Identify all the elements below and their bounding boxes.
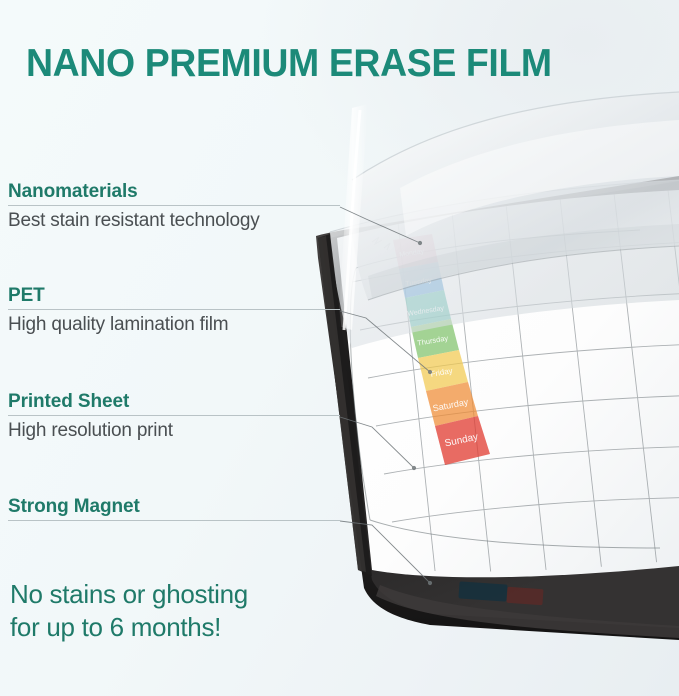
product-infographic: Monday Tuesday Wednesday T xyxy=(0,0,679,696)
svg-text:Thursday: Thursday xyxy=(416,333,449,347)
svg-text:Tuesday: Tuesday xyxy=(405,277,433,288)
callout-rule xyxy=(8,520,340,521)
callout-printed-sheet: Printed Sheet High resolution print xyxy=(8,391,354,444)
callout-heading: Nanomaterials xyxy=(8,181,354,203)
callout-subtitle: Best stain resistant technology xyxy=(8,209,354,234)
leader-strong-magnet xyxy=(340,521,430,583)
tagline-line-1: No stains or ghosting xyxy=(10,578,248,611)
svg-text:Friday: Friday xyxy=(430,366,453,379)
printed-grid-sheet xyxy=(337,190,679,594)
callout-heading: Strong Magnet xyxy=(8,496,354,518)
handwriting-marks xyxy=(372,237,390,250)
svg-text:Wednesday: Wednesday xyxy=(407,305,445,318)
callout-rule xyxy=(8,205,340,206)
svg-text:Sunday: Sunday xyxy=(444,432,479,450)
magnet-frame xyxy=(316,176,679,640)
svg-text:Saturday: Saturday xyxy=(432,397,470,414)
day-tab-saturday: Saturday xyxy=(426,382,478,426)
day-tab-monday: Monday xyxy=(393,234,438,269)
nano-film-surface xyxy=(351,92,679,300)
tagline-line-2: for up to 6 months! xyxy=(10,611,248,644)
callout-nanomaterials: Nanomaterials Best stain resistant techn… xyxy=(8,181,354,234)
day-tab-sunday: Sunday xyxy=(435,416,490,465)
page-title: NANO PREMIUM ERASE FILM xyxy=(26,44,552,83)
callout-heading: Printed Sheet xyxy=(8,391,354,413)
callout-pet: PET High quality lamination film xyxy=(8,285,354,338)
tagline: No stains or ghosting for up to 6 months… xyxy=(10,578,248,644)
day-tab-friday: Friday xyxy=(418,350,468,391)
callout-subtitle: High resolution print xyxy=(8,419,354,444)
callout-rule xyxy=(8,415,340,416)
callout-rule xyxy=(8,309,340,310)
day-tab-wednesday: Wednesday xyxy=(405,290,451,327)
day-tab-tuesday: Tuesday xyxy=(399,262,444,298)
callout-subtitle: High quality lamination film xyxy=(8,313,354,338)
pet-laminate-layer xyxy=(330,180,679,348)
callout-strong-magnet: Strong Magnet xyxy=(8,496,354,524)
svg-text:Monday: Monday xyxy=(399,248,425,259)
day-tab-thursday: Thursday xyxy=(411,319,459,358)
callout-heading: PET xyxy=(8,285,354,307)
day-tab-strip: Monday Tuesday Wednesday T xyxy=(393,234,490,465)
